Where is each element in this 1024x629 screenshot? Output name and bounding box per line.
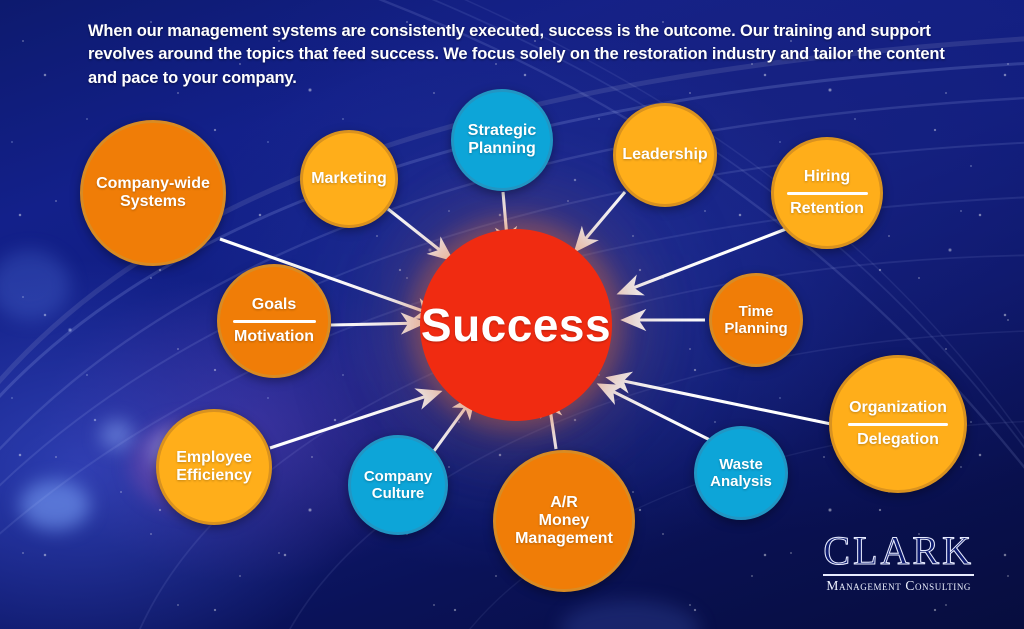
node-goals-motivation-label-2: Motivation: [234, 327, 314, 346]
node-hiring-retention-label-1: Hiring: [804, 168, 850, 189]
node-company-wide-systems[interactable]: Company-wideSystems: [80, 120, 226, 266]
node-goals-motivation-label-1: Goals: [252, 296, 296, 317]
node-hiring-retention[interactable]: HiringRetention: [771, 137, 883, 249]
node-time-planning-label-1: Time: [739, 303, 774, 320]
node-marketing-label-1: Marketing: [311, 170, 387, 188]
node-leadership[interactable]: Leadership: [613, 103, 717, 207]
link-goals-motivation: [331, 323, 423, 325]
node-hiring-retention-label-2: Retention: [790, 199, 864, 218]
node-company-culture-label-2: Culture: [372, 485, 425, 502]
clark-logo: CLARK Management Consulting: [823, 531, 974, 594]
node-organization-delegation[interactable]: OrganizationDelegation: [829, 355, 967, 493]
node-organization-delegation-label-1: Organization: [849, 399, 947, 420]
node-time-planning[interactable]: TimePlanning: [709, 273, 803, 367]
node-company-culture-label-1: Company: [364, 468, 432, 485]
node-leadership-label-1: Leadership: [622, 146, 707, 164]
nebula-glow-left-2: [100, 420, 134, 450]
logo-divider: [823, 574, 974, 576]
node-goals-motivation-divider: [233, 320, 316, 323]
node-waste-analysis-label-2: Analysis: [710, 473, 772, 490]
page-headline: When our management systems are consiste…: [88, 20, 968, 90]
node-employee-efficiency-label-2: Efficiency: [176, 467, 252, 485]
node-ar-money-management-label-3: Management: [515, 530, 613, 548]
node-success-label: Success: [421, 299, 611, 351]
logo-tagline: Management Consulting: [823, 578, 974, 594]
link-waste-analysis: [600, 385, 710, 440]
node-success[interactable]: Success: [420, 229, 612, 421]
node-time-planning-label-2: Planning: [724, 320, 787, 337]
node-employee-efficiency[interactable]: EmployeeEfficiency: [156, 409, 272, 525]
node-hiring-retention-divider: [787, 192, 868, 195]
nebula-glow-bottom: [560, 600, 700, 629]
nebula-glow-left: [20, 480, 90, 530]
node-organization-delegation-label-2: Delegation: [857, 430, 939, 449]
link-leadership: [576, 192, 625, 250]
node-strategic-planning[interactable]: StrategicPlanning: [451, 89, 553, 191]
diagram-canvas: When our management systems are consiste…: [0, 0, 1024, 629]
node-company-wide-systems-label-2: Systems: [120, 193, 186, 211]
node-company-culture[interactable]: CompanyCulture: [348, 435, 448, 535]
node-company-wide-systems-label-1: Company-wide: [96, 175, 210, 193]
node-organization-delegation-divider: [848, 423, 948, 426]
node-ar-money-management-label-1: A/R: [550, 494, 578, 512]
node-ar-money-management-label-2: Money: [539, 512, 590, 530]
node-strategic-planning-label-1: Strategic: [468, 122, 536, 140]
node-waste-analysis-label-1: Waste: [719, 456, 763, 473]
link-marketing: [388, 209, 451, 259]
node-strategic-planning-label-2: Planning: [468, 140, 536, 158]
link-organization-delegation: [609, 378, 831, 424]
node-marketing[interactable]: Marketing: [300, 130, 398, 228]
logo-wordmark: CLARK: [823, 531, 974, 571]
node-ar-money-management[interactable]: A/RMoneyManagement: [493, 450, 635, 592]
node-goals-motivation[interactable]: GoalsMotivation: [217, 264, 331, 378]
nebula-glow-top-left: [0, 250, 70, 320]
node-employee-efficiency-label-1: Employee: [176, 449, 252, 467]
node-waste-analysis[interactable]: WasteAnalysis: [694, 426, 788, 520]
